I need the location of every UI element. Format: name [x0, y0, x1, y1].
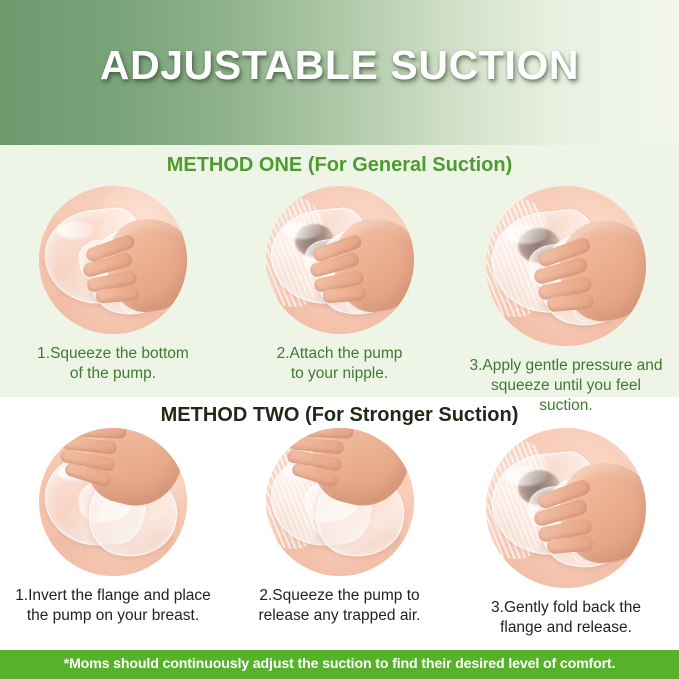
- pump-highlight: [283, 222, 321, 240]
- invert-flange-place-on-breast-photo: [39, 428, 187, 576]
- pump-highlight: [505, 224, 547, 243]
- fold-back-flange-release-photo: [486, 428, 646, 588]
- finger-shape: [547, 294, 595, 313]
- method-one-steps-row: 1.Squeeze the bottom of the pump. 2: [0, 186, 679, 416]
- step-caption: 2.Squeeze the pump to release any trappe…: [233, 586, 447, 626]
- step-caption: 3.Gently fold back the flange and releas…: [459, 598, 673, 638]
- step-caption: 1.Squeeze the bottom of the pump.: [6, 344, 220, 384]
- step-two-one: 1.Invert the flange and place the pump o…: [0, 428, 226, 626]
- header-banner: ADJUSTABLE SUCTION: [0, 0, 679, 145]
- method-two-steps-row: 1.Invert the flange and place the pump o…: [0, 428, 679, 638]
- finger-shape: [95, 286, 139, 303]
- method-one-heading: METHOD ONE (For General Suction): [0, 153, 679, 177]
- step-caption: 1.Invert the flange and place the pump o…: [6, 586, 220, 626]
- apply-gentle-pressure-photo: [486, 186, 646, 346]
- step-one-two: 2.Attach the pump to your nipple.: [227, 186, 453, 384]
- attach-pump-to-nipple-photo: [266, 186, 414, 334]
- step-one-one: 1.Squeeze the bottom of the pump.: [0, 186, 226, 384]
- step-caption: 2.Attach the pump to your nipple.: [233, 344, 447, 384]
- squeeze-pump-release-air-photo: [266, 428, 414, 576]
- pump-highlight: [505, 466, 547, 485]
- step-one-three: 3.Apply gentle pressure and squeeze unti…: [453, 186, 679, 416]
- method-two-heading: METHOD TWO (For Stronger Suction): [0, 403, 679, 427]
- squeeze-bottom-of-pump-photo: [39, 186, 187, 334]
- step-two-two: 2.Squeeze the pump to release any trappe…: [227, 428, 453, 626]
- page-title: ADJUSTABLE SUCTION: [0, 41, 679, 89]
- footer-banner: *Moms should continuously adjust the suc…: [0, 650, 679, 679]
- finger-shape: [547, 536, 595, 555]
- finger-shape: [321, 286, 365, 303]
- footer-note: *Moms should continuously adjust the suc…: [64, 650, 616, 679]
- infographic-page: ADJUSTABLE SUCTION METHOD ONE (For Gener…: [0, 0, 679, 679]
- step-two-three: 3.Gently fold back the flange and releas…: [453, 428, 679, 638]
